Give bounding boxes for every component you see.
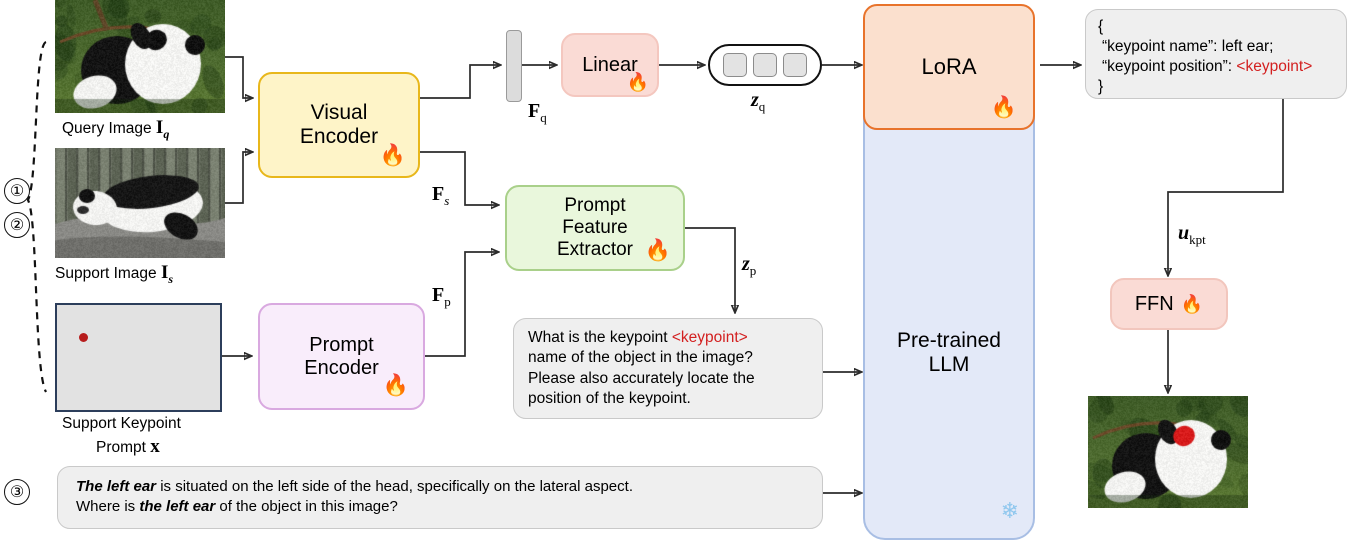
support-image — [55, 148, 225, 258]
text-prompt-line1: What is the keypoint <keypoint> — [528, 328, 808, 348]
lora-block[interactable]: LoRA 🔥 — [863, 4, 1035, 130]
fire-icon: 🔥 — [1181, 295, 1203, 313]
pretrained-llm-block[interactable]: Pre-trained LLM ❄ — [863, 62, 1035, 540]
support-prompt-symbol: x — [150, 436, 160, 457]
step-number-1: ① — [4, 178, 30, 204]
text-prompt-line4: position of the keypoint. — [528, 389, 808, 409]
keypoint-dot — [79, 333, 88, 342]
fire-icon: 🔥 — [645, 240, 671, 261]
description-line1-rest: is situated on the left side of the head… — [156, 478, 633, 495]
label-f-p: Fp — [432, 284, 451, 310]
prompt-feature-extractor-block[interactable]: Prompt Feature Extractor 🔥 — [505, 185, 685, 271]
token-square — [723, 53, 747, 77]
query-image-caption: Query Image Iq — [62, 117, 169, 142]
label-z-p: zp — [742, 253, 756, 279]
diagram-canvas: ① ② ③ Query Image Iq Support Image Is Su… — [0, 0, 1356, 550]
text-prompt-bubble: What is the keypoint <keypoint> name of … — [513, 318, 823, 419]
support-image-symbol: Is — [161, 262, 173, 283]
support-prompt-caption-text: Prompt — [96, 439, 146, 456]
step-number-2: ② — [4, 212, 30, 238]
llm-label-line2: LLM — [865, 353, 1033, 377]
token-square — [753, 53, 777, 77]
description-subject-1: The left ear — [76, 478, 156, 495]
output-json-bubble: { “keypoint name”: left ear; “keypoint p… — [1085, 9, 1347, 99]
json-position-line: “keypoint position”: <keypoint> — [1098, 57, 1334, 77]
ffn-block[interactable]: FFN 🔥 — [1110, 278, 1228, 330]
support-image-caption: Support Image Is — [55, 262, 173, 287]
text-prompt-line3: Please also accurately locate the — [528, 369, 808, 389]
json-position-key: “keypoint position”: — [1102, 58, 1236, 75]
query-image — [55, 0, 225, 113]
keypoint-token: <keypoint> — [1236, 58, 1312, 75]
support-keypoint-prompt-box — [55, 303, 222, 412]
pfe-label-line1: Prompt — [557, 195, 633, 217]
label-f-q: Fq — [528, 100, 547, 126]
fire-icon: 🔥 — [991, 97, 1017, 118]
prompt-encoder-block[interactable]: Prompt Encoder 🔥 — [258, 303, 425, 410]
keypoint-token: <keypoint> — [672, 329, 748, 346]
json-close-brace: } — [1098, 77, 1334, 97]
llm-label-line1: Pre-trained — [865, 329, 1033, 353]
linear-block[interactable]: Linear 🔥 — [561, 33, 659, 97]
support-image-caption-text: Support Image — [55, 265, 157, 282]
label-u-kpt: ukpt — [1178, 222, 1206, 248]
text-prompt-line1-prefix: What is the keypoint — [528, 329, 672, 346]
pfe-label-line2: Feature — [557, 217, 633, 239]
label-f-s: Fs — [432, 183, 449, 209]
query-image-caption-text: Query Image — [62, 120, 152, 137]
fire-icon: 🔥 — [627, 73, 649, 91]
prompt-encoder-label-line1: Prompt — [304, 334, 379, 357]
description-prompt-bubble: The left ear is situated on the left sid… — [57, 466, 823, 529]
fire-icon: 🔥 — [383, 375, 409, 396]
visual-encoder-label-line1: Visual — [300, 101, 378, 125]
ffn-label: FFN — [1135, 293, 1174, 316]
fire-icon: 🔥 — [380, 145, 406, 166]
snowflake-icon: ❄ — [1001, 500, 1019, 522]
visual-encoder-label-line2: Encoder — [300, 125, 378, 149]
description-subject-2: the left ear — [139, 498, 215, 515]
query-image-symbol: Iq — [156, 117, 169, 138]
query-feature-bar — [506, 30, 522, 102]
json-name-line: “keypoint name”: left ear; — [1098, 37, 1334, 57]
support-prompt-caption-line1: Support Keypoint — [62, 415, 181, 433]
description-line1: The left ear is situated on the left sid… — [76, 477, 804, 497]
query-token-capsule — [708, 44, 822, 86]
lora-label: LoRA — [921, 54, 976, 79]
text-prompt-line2: name of the object in the image? — [528, 348, 808, 368]
label-z-q: zq — [751, 89, 765, 115]
result-image — [1088, 396, 1248, 508]
description-line2: Where is the left ear of the object in t… — [76, 497, 804, 517]
support-prompt-caption-line2: Prompt x — [96, 436, 160, 458]
prompt-encoder-label-line2: Encoder — [304, 357, 379, 380]
visual-encoder-block[interactable]: Visual Encoder 🔥 — [258, 72, 420, 178]
step-number-3: ③ — [4, 479, 30, 505]
description-line2-rest: of the object in this image? — [215, 498, 398, 515]
description-line2-prefix: Where is — [76, 498, 139, 515]
json-open-brace: { — [1098, 17, 1334, 37]
pfe-label-line3: Extractor — [557, 239, 633, 261]
token-square — [783, 53, 807, 77]
